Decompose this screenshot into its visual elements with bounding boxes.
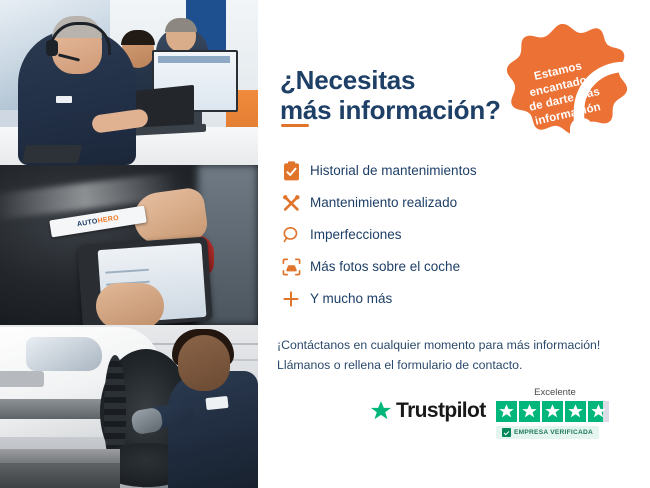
verified-company-label: EMPRESA VERIFICADA xyxy=(514,429,593,436)
mechanic-wheel-photo xyxy=(0,325,258,488)
feature-list: Historial de mantenimientos M xyxy=(276,155,606,315)
promo-starburst-badge: Estamos encantados de darte más informac… xyxy=(498,22,628,154)
inspector-hand-lower xyxy=(96,283,164,325)
car-inspection-ruler-photo: AUTOHERO xyxy=(0,165,258,325)
magnifier-icon xyxy=(276,222,306,248)
title-underline-rule xyxy=(281,124,309,127)
trustpilot-star-filled xyxy=(496,401,517,422)
trustpilot-wordmark: Trustpilot xyxy=(396,399,486,423)
trustpilot-star-row xyxy=(496,401,624,422)
feature-item-imperfections: Imperfecciones xyxy=(276,219,606,251)
page-title: ¿Necesitas más información? xyxy=(280,65,530,125)
photo-column: AUTOHERO xyxy=(0,0,258,488)
tools-cross-icon xyxy=(276,190,306,216)
page-title-line-2: más información? xyxy=(280,95,530,125)
feature-item-more-photos: Más fotos sobre el coche xyxy=(276,251,606,283)
contact-paragraph-line-2: Llámanos o rellena el formulario de cont… xyxy=(277,355,647,375)
content-panel: ¿Necesitas más información? Estamos enca… xyxy=(258,0,650,488)
verified-check-icon xyxy=(502,428,511,437)
trustpilot-star-filled xyxy=(565,401,586,422)
headset-earcup xyxy=(46,40,58,56)
call-center-agents-photo xyxy=(0,0,258,165)
feature-label: Más fotos sobre el coche xyxy=(306,259,460,275)
car-lift-base xyxy=(0,463,120,488)
car-photo-frame-icon xyxy=(276,254,306,280)
plus-icon xyxy=(276,286,306,312)
mechanic-shirt-logo xyxy=(205,396,228,410)
trustpilot-logo[interactable]: Trustpilot xyxy=(370,399,486,423)
trustpilot-rating[interactable]: Trustpilot Excelente xyxy=(370,385,635,451)
clipboard-check-icon xyxy=(276,158,306,184)
ruler-brand-first: AUTO xyxy=(77,218,99,228)
ruler-brand-second: HERO xyxy=(97,215,119,225)
trustpilot-score-block: Excelente xyxy=(496,385,624,442)
feature-label: Imperfecciones xyxy=(306,227,402,243)
desk-tablet xyxy=(22,145,82,163)
feature-item-much-more: Y mucho más xyxy=(276,283,606,315)
car-lower-grille xyxy=(0,399,106,419)
trustpilot-rating-label: Excelente xyxy=(496,387,614,398)
car-upper-grille xyxy=(0,371,44,387)
feature-label: Historial de mantenimientos xyxy=(306,163,477,179)
contact-paragraph-line-1: ¡Contáctanos en cualquier momento para m… xyxy=(277,338,600,352)
trustpilot-star-icon xyxy=(370,400,392,422)
trustpilot-star-partial xyxy=(588,401,609,422)
monitor-screen-toolbar xyxy=(158,56,230,63)
car-headlight xyxy=(26,337,102,371)
contact-paragraph: ¡Contáctanos en cualquier momento para m… xyxy=(277,335,647,375)
trustpilot-star-filled xyxy=(542,401,563,422)
feature-label: Mantenimiento realizado xyxy=(306,195,457,211)
information-request-banner: AUTOHERO xyxy=(0,0,650,488)
agent-name-badge xyxy=(56,96,72,103)
car-lift-platform xyxy=(0,449,120,463)
page-title-line-1: ¿Necesitas xyxy=(280,65,415,95)
feature-label: Y mucho más xyxy=(306,291,392,307)
mechanic-head xyxy=(178,335,230,391)
trustpilot-star-filled xyxy=(519,401,540,422)
verified-company-badge: EMPRESA VERIFICADA xyxy=(496,426,599,439)
feature-item-maintenance-history: Historial de mantenimientos xyxy=(276,155,606,187)
feature-item-maintenance-done: Mantenimiento realizado xyxy=(276,187,606,219)
